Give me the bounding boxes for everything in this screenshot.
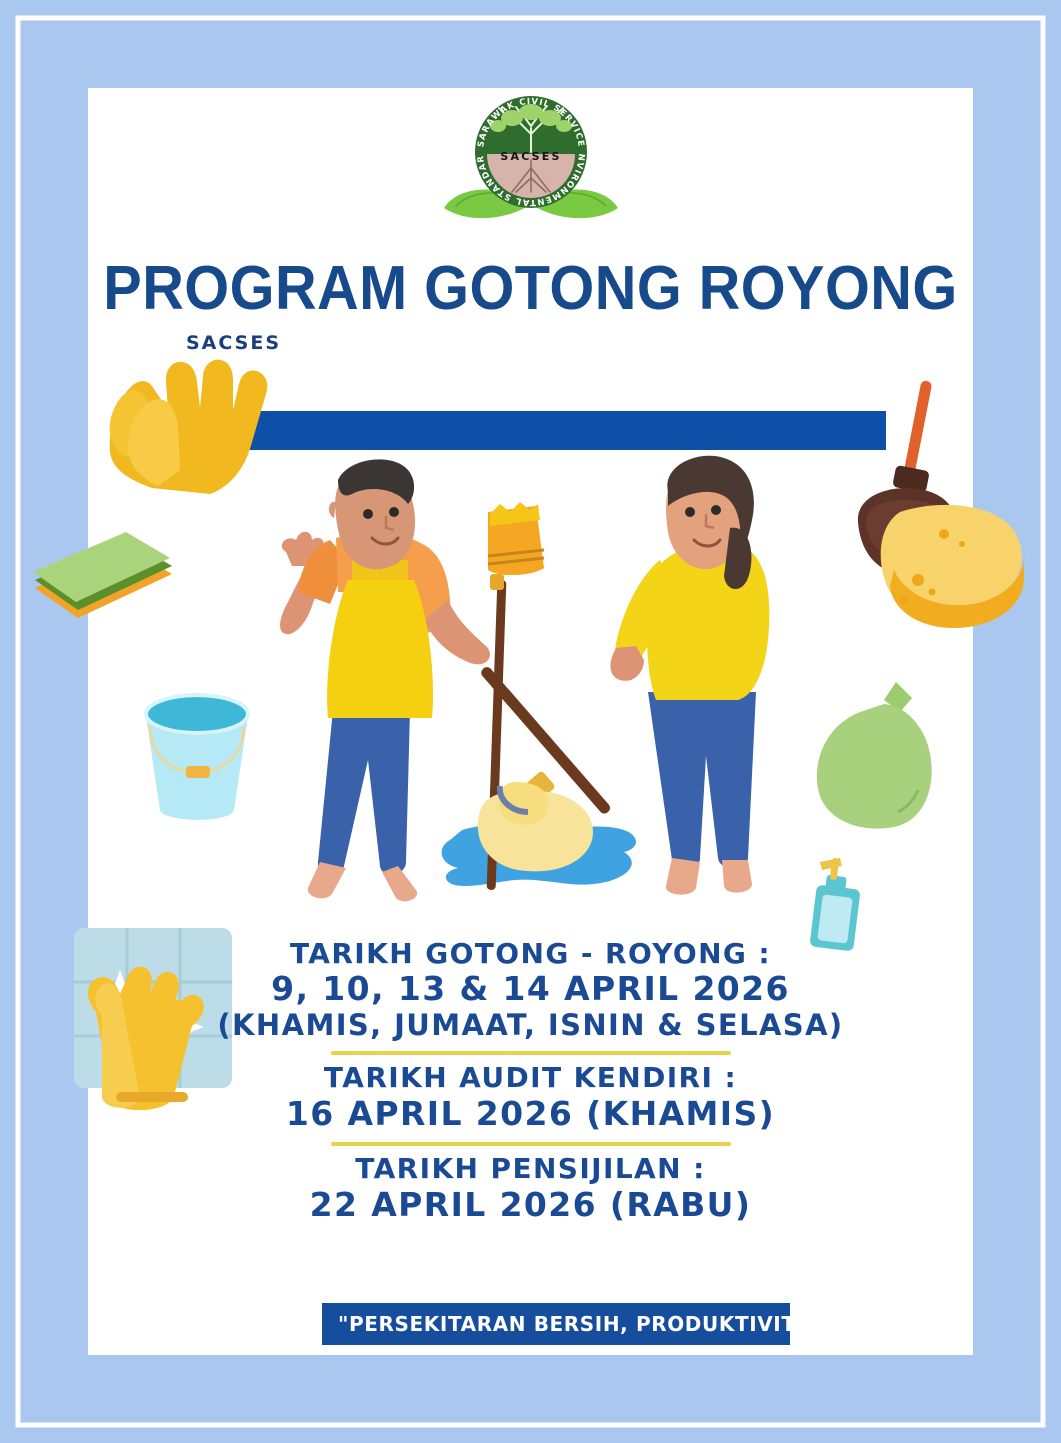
gotong-royong-value: 9, 10, 13 & 14 APRIL 2026 <box>0 970 1061 1008</box>
gotong-royong-label: TARIKH GOTONG - ROYONG : <box>0 938 1061 970</box>
divider-rule-2 <box>331 1142 731 1146</box>
slogan-banner: "PERSEKITARAN BERSIH, PRODUKTIVITI MENIN… <box>322 1303 790 1345</box>
dates-block: TARIKH GOTONG - ROYONG : 9, 10, 13 & 14 … <box>0 938 1061 1224</box>
divider-rule-1 <box>331 1051 731 1055</box>
gotong-royong-days: (KHAMIS, JUMAAT, ISNIN & SELASA) <box>0 1009 1061 1043</box>
slogan-text: "PERSEKITARAN BERSIH, PRODUKTIVITI MENIN… <box>338 1312 790 1336</box>
poster-canvas: SACSES SARAWAK CIVIL SERVICE ENVIRONMENT… <box>0 0 1061 1443</box>
title-accent-bar <box>180 411 886 450</box>
audit-kendiri-label: TARIKH AUDIT KENDIRI : <box>0 1062 1061 1094</box>
pensijilan-value: 22 APRIL 2026 (RABU) <box>0 1186 1061 1224</box>
page-subtitle: SACSES <box>186 332 281 354</box>
pensijilan-label: TARIKH PENSIJILAN : <box>0 1153 1061 1185</box>
page-title: PROGRAM GOTONG ROYONG <box>37 253 1024 324</box>
sacses-logo: SACSES SARAWAK CIVIL SERVICE ENVIRONMENT… <box>416 88 646 228</box>
audit-kendiri-value: 16 APRIL 2026 (KHAMIS) <box>0 1095 1061 1133</box>
logo-center-text: SACSES <box>500 150 561 163</box>
